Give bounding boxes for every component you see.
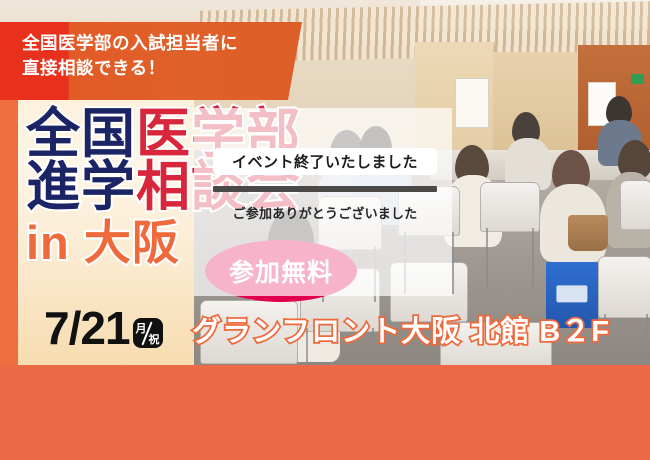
venue-name: グランフロント大阪 北館 B２F	[192, 308, 610, 350]
event-ended-label: イベント終了いたしました	[232, 151, 418, 172]
holiday-kanji: 祝	[149, 331, 160, 347]
day-of-week-badge: 月 祝	[133, 318, 163, 348]
title-line-1-part-1: 全国	[26, 104, 136, 164]
event-date: 7/21 月 祝	[44, 305, 163, 351]
headline-ribbon-text: 全国医学部の入試担当者に 直接相談できる！	[22, 31, 302, 81]
chair	[620, 180, 650, 230]
title-line-2-part-1: 進学	[26, 157, 136, 217]
event-ended-overlay	[194, 108, 452, 296]
event-ended-box: イベント終了いたしました	[213, 148, 437, 175]
overlay-divider	[213, 186, 437, 192]
event-poster: 参加無料 全国医学部 進学相談会 in 大阪 全国医学部の入試担当者に 直接相談…	[0, 0, 650, 460]
title-line-3-prefix: in	[26, 216, 84, 269]
thank-you-label: ご参加ありがとうございました	[213, 203, 437, 222]
title-line-3-place: 大阪	[84, 216, 180, 269]
chair-leg	[646, 314, 648, 364]
exit-sign-icon	[631, 74, 644, 84]
event-date-number: 7/21	[44, 305, 130, 351]
